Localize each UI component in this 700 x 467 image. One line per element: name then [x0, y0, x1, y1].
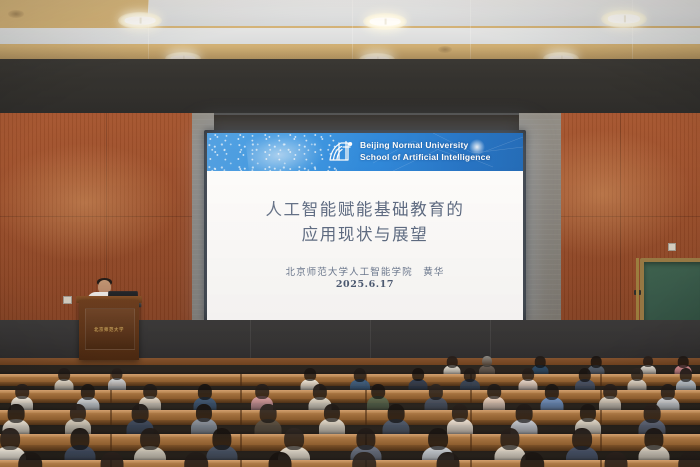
audience-member-head [352, 452, 376, 467]
desk-divider [470, 460, 472, 467]
audience-member-head [482, 356, 492, 367]
audience-member-head [284, 428, 304, 450]
desk-divider [110, 390, 112, 403]
desk-divider [240, 434, 242, 451]
audience-member-head [487, 384, 501, 399]
audience-member-head [429, 384, 443, 400]
wall-socket [668, 243, 676, 251]
audience-seating [0, 356, 700, 467]
projection-screen[interactable]: Beijing Normal University School of Arti… [207, 133, 523, 320]
ceiling-light-1 [118, 12, 162, 29]
audience-member [262, 452, 299, 467]
audience-member-head [143, 384, 157, 399]
audience-member-head [678, 356, 689, 368]
slide-date: 2025.6.17 [207, 279, 523, 290]
audience-member-head [354, 368, 366, 382]
slide-body: 人工智能赋能基础教育的 应用现状与展望 北京师范大学人工智能学院 黄华 2025… [207, 171, 523, 320]
audience-member-head [644, 428, 663, 450]
audience-member-head [631, 368, 643, 381]
audience-member-head [70, 428, 89, 450]
desk-shadow [0, 399, 700, 403]
audience-member-head [18, 452, 42, 467]
ceiling-vent-icon [8, 10, 24, 18]
audience-member-head [0, 428, 20, 450]
desk-divider [600, 434, 602, 451]
audience-member-head [661, 384, 675, 400]
audience-member [177, 452, 215, 467]
audience-member [671, 452, 700, 467]
audience-member-head [644, 404, 661, 423]
wall-light-glow [0, 143, 180, 263]
slide-affiliation: 北京师范大学人工智能学院 黄华 [207, 264, 523, 278]
audience-member-head [132, 404, 149, 423]
slide-banner: Beijing Normal University School of Arti… [207, 133, 523, 171]
audience-member-head [81, 384, 95, 400]
audience-member-head [520, 452, 544, 467]
audience-member-head [212, 428, 231, 450]
wall-seam [0, 216, 207, 217]
audience-member-head [196, 404, 212, 422]
audience-member-head [437, 452, 460, 467]
audience-member-head [313, 384, 327, 400]
audience-member-head [260, 404, 277, 423]
slide-title-line-2: 应用现状与展望 [207, 222, 523, 247]
audience-member-head [643, 356, 653, 367]
light-bulb-icon [370, 17, 401, 26]
audience-member-head [522, 368, 534, 381]
slide-title: 人工智能赋能基础教育的 应用现状与展望 [207, 197, 523, 247]
audience-member-head [464, 368, 476, 382]
podium-plaque: 北京师范大学 [89, 325, 129, 334]
desk-divider [240, 374, 242, 386]
lecture-hall-scene: Beijing Normal University School of Arti… [0, 0, 700, 467]
audience-member-head [371, 384, 385, 399]
audience-desk-row [0, 390, 700, 403]
audience-member-head [500, 428, 519, 450]
audience-member-head [516, 404, 533, 423]
light-bulb-icon [608, 14, 640, 23]
audience-member-head [70, 404, 86, 422]
ceiling [0, 0, 700, 62]
audience-member-head [680, 368, 692, 382]
banner-face-profile-graphic [245, 133, 329, 171]
desk-divider [470, 390, 472, 403]
audience-member-head [269, 452, 292, 467]
desk-divider [240, 390, 242, 403]
light-bulb-icon [125, 16, 156, 25]
audience-member-head [579, 368, 591, 382]
audience-member-head [184, 452, 208, 467]
desk-divider [365, 410, 367, 425]
audience-member-head [447, 356, 458, 368]
audience-member [11, 452, 49, 467]
audience-member-head [255, 384, 269, 399]
ceiling-light-3 [601, 10, 647, 28]
audience-member-head [572, 428, 592, 450]
ceiling-panel-strip [0, 28, 700, 44]
audience-member-head [388, 404, 405, 423]
audience-member-head [15, 384, 29, 399]
audience-member-head [605, 452, 628, 467]
wall-socket [63, 296, 72, 304]
audience-member-head [140, 428, 160, 450]
audience-member-head [591, 356, 602, 368]
desk-divider [110, 434, 112, 451]
audience-member [430, 452, 467, 467]
audience-member-head [412, 368, 424, 381]
audience-member-head [678, 452, 700, 467]
audience-member [513, 452, 551, 467]
audience-member-head [545, 384, 559, 400]
audience-member-head [356, 428, 375, 450]
audience-member-head [452, 404, 468, 422]
upper-wall-band [0, 59, 700, 115]
ceiling-light-2 [363, 13, 407, 30]
audience-member-head [101, 452, 124, 467]
banner-line-2: School of Artificial Intelligence [360, 151, 491, 163]
audience-member-head [198, 384, 212, 400]
banner-line-1: Beijing Normal University [360, 139, 491, 151]
audience-member-head [428, 428, 448, 450]
desk-divider [110, 410, 112, 425]
bnu-ai-school-logo-icon [326, 138, 356, 166]
audience-member-head [111, 368, 122, 380]
slide-title-line-1: 人工智能赋能基础教育的 [207, 197, 523, 222]
audience-member-head [8, 404, 25, 423]
desk-edge [0, 390, 700, 393]
audience-member-head [324, 404, 340, 422]
audience-member-head [580, 404, 596, 422]
audience-member-head [603, 384, 617, 399]
banner-text: Beijing Normal University School of Arti… [360, 139, 491, 163]
desk-divider [240, 460, 242, 467]
audience-member-head [304, 368, 316, 381]
audience-member-head [535, 356, 546, 368]
audience-member [598, 452, 635, 467]
desk-divider [470, 434, 472, 451]
desk-divider [240, 410, 242, 425]
audience-member-head [58, 368, 70, 381]
audience-member [94, 452, 131, 467]
audience-member [345, 452, 383, 467]
